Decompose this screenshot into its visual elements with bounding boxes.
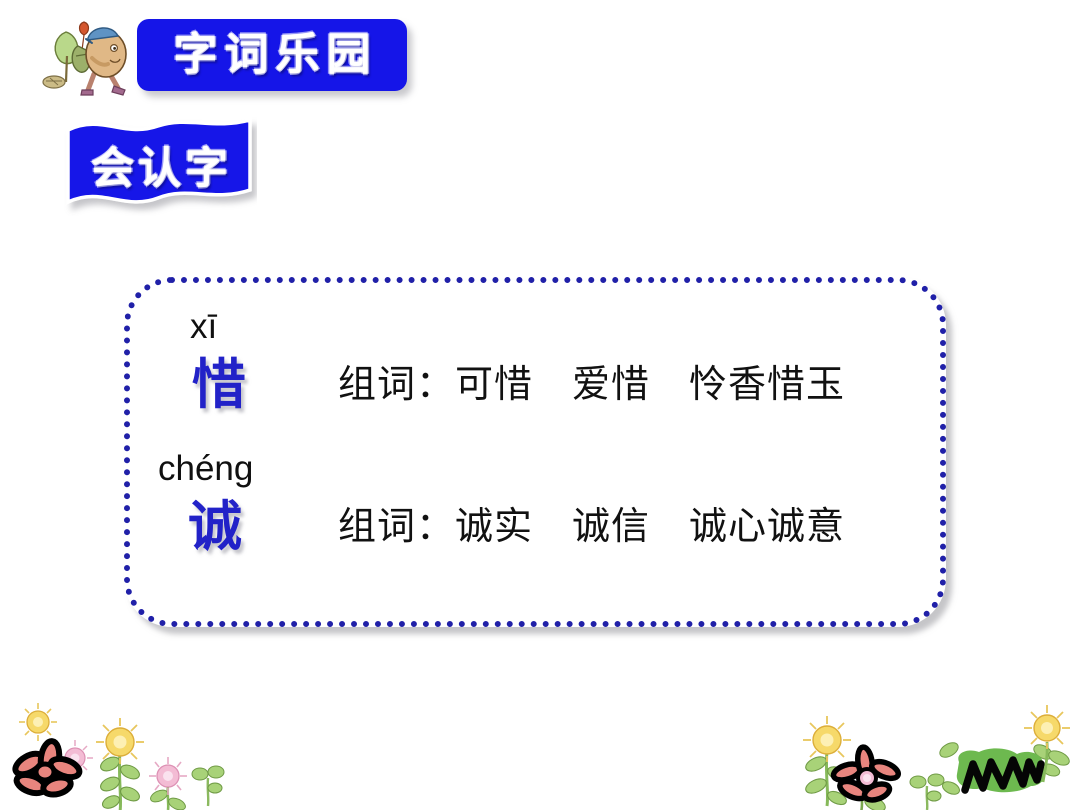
right-flower-decoration [795,700,1080,810]
section-ribbon-banner: 会认字 [62,112,257,216]
pinyin-label: chéng [158,451,253,486]
section-label: 会认字 [62,112,257,216]
character-glyph: 惜 [192,357,246,411]
left-flower-decoration [0,700,240,810]
pinyin-label: xī [190,309,217,344]
vocabulary-entry: chéng 诚 组词：诚实 诚信 诚心诚意 [130,451,940,591]
word-examples: 组词：诚实 诚信 诚心诚意 [338,507,845,545]
vocabulary-panel: xī 惜 组词：可惜 爱惜 怜香惜玉 chéng 诚 组词：诚实 诚信 诚心诚意 [124,277,946,627]
character-glyph: 诚 [188,499,242,553]
page-title: 字词乐园 [167,33,378,77]
vocabulary-entry: xī 惜 组词：可惜 爱惜 怜香惜玉 [130,309,940,449]
slide-title-plaque: 字词乐园 [137,19,407,91]
word-examples: 组词：可惜 爱惜 怜香惜玉 [338,365,845,403]
mascot-illustration [26,10,136,105]
